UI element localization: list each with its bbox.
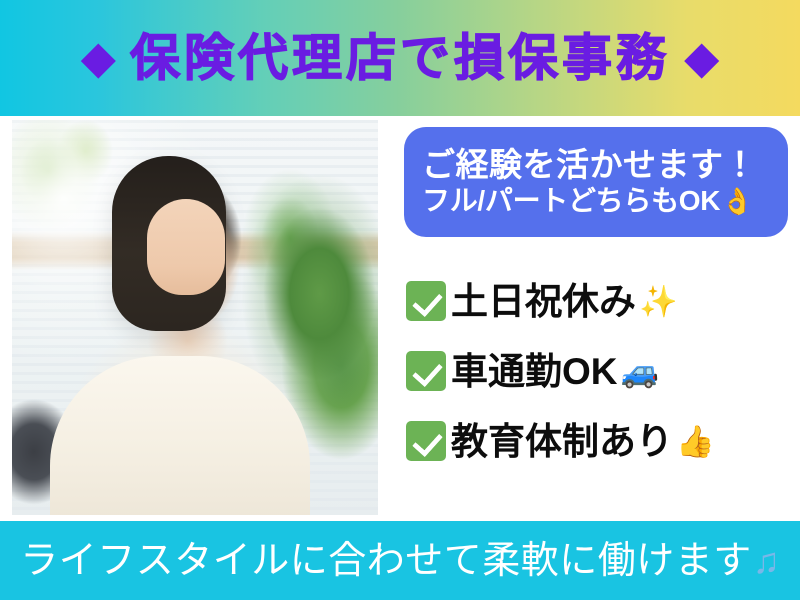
check-box-icon: [406, 351, 446, 391]
feature-label: 車通勤OK: [451, 353, 618, 390]
diamond-left-icon: ◆: [81, 34, 116, 80]
feature-label: 教育体制あり: [451, 423, 673, 460]
music-note-icon: ♫: [753, 543, 780, 579]
page-title: 保険代理店で損保事務: [130, 33, 670, 83]
experience-callout-box: ご経験を活かせます！ フル/パートどちらもOK 👌: [404, 127, 788, 237]
callout-headline: ご経験を活かせます！: [422, 146, 774, 185]
callout-subline-text: フル/パートどちらもOK: [422, 185, 720, 217]
list-item: 教育体制あり 👍: [406, 406, 796, 476]
check-box-icon: [406, 421, 446, 461]
footer-banner: ライフスタイルに合わせて柔軟に働けます ♫: [0, 521, 800, 600]
feature-label: 土日祝休み: [451, 283, 636, 320]
thumbs-up-icon: 👍: [676, 426, 715, 457]
photo-person-face: [147, 199, 225, 295]
list-item: 車通勤OK 🚙: [406, 336, 796, 406]
callout-subline: フル/パートどちらもOK 👌: [422, 185, 774, 217]
header-inner: ◆ 保険代理店で損保事務 ◆: [0, 33, 800, 83]
sparkles-icon: ✨: [639, 286, 678, 317]
ok-hand-icon: 👌: [721, 186, 753, 216]
diamond-right-icon: ◆: [684, 34, 719, 80]
car-icon: 🚙: [621, 356, 660, 387]
footer-inner: ライフスタイルに合わせて柔軟に働けます ♫: [20, 542, 780, 580]
footer-tagline: ライフスタイルに合わせて柔軟に働けます: [20, 542, 752, 580]
list-item: 土日祝休み ✨: [406, 266, 796, 336]
staff-photo: [12, 120, 378, 515]
header-banner: ◆ 保険代理店で損保事務 ◆: [0, 0, 800, 116]
feature-list: 土日祝休み ✨ 車通勤OK 🚙 教育体制あり 👍: [406, 266, 796, 476]
check-box-icon: [406, 281, 446, 321]
job-ad-banner: ◆ 保険代理店で損保事務 ◆ ご経験を活かせます！ フル/パートどちらもOK 👌…: [0, 0, 800, 600]
